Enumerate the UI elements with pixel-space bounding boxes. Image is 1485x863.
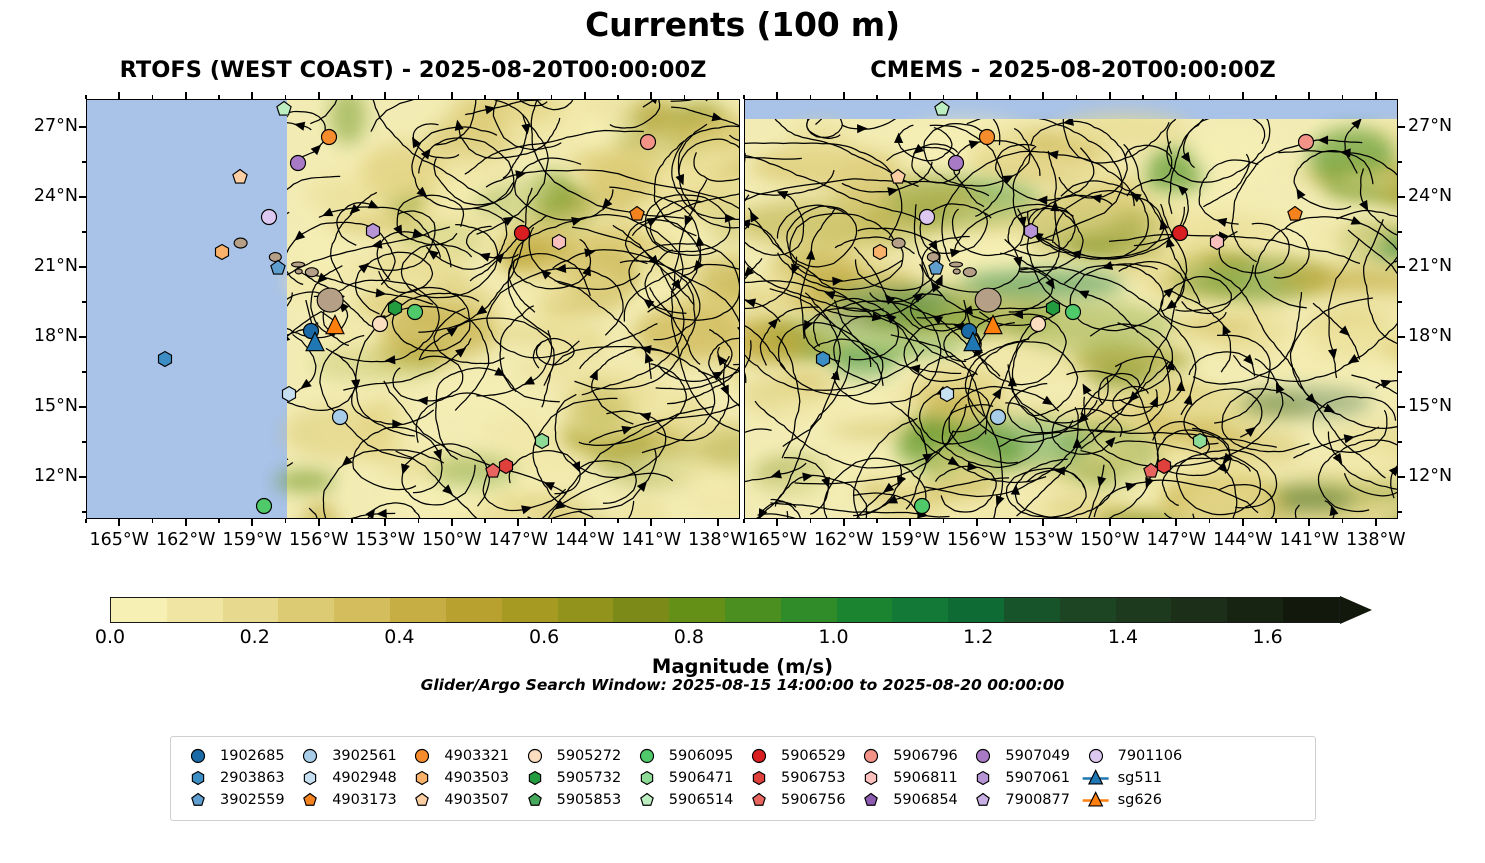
float-marker-3902561[interactable] [989, 408, 1007, 426]
legend-item-5906753[interactable]: 5906753 [744, 767, 856, 789]
axis-tick [743, 519, 744, 523]
figure-suptitle: Currents (100 m) [0, 5, 1485, 44]
axis-tick [82, 441, 86, 442]
axis-tick [79, 196, 86, 198]
axis-tick [617, 519, 618, 523]
float-marker-5906471[interactable] [1191, 432, 1209, 450]
colorbar-segment [502, 598, 558, 622]
axis-tick [876, 519, 877, 523]
colorbar-segment [781, 598, 837, 622]
axis-tick [650, 92, 652, 99]
colorbar-extend-arrow [1340, 596, 1372, 624]
axis-tick [1375, 92, 1377, 99]
legend-item-label: 5906811 [893, 770, 958, 786]
axis-tick [1375, 519, 1377, 526]
float-marker-2903863[interactable] [814, 350, 832, 368]
axis-tick [285, 519, 286, 523]
float-marker-4903321[interactable] [320, 128, 338, 146]
float-marker-4902948[interactable] [938, 385, 956, 403]
legend-marker-icon [295, 792, 325, 808]
float-marker-4903173[interactable] [1286, 205, 1304, 223]
axis-tick [776, 519, 778, 526]
axis-tick [717, 92, 719, 99]
colorbar[interactable] [110, 597, 1360, 623]
axis-tick [1342, 519, 1343, 523]
legend-marker-icon [520, 792, 550, 808]
legend-item-label: sg626 [1118, 792, 1162, 808]
axis-tick [1042, 92, 1044, 99]
colorbar-segment [892, 598, 948, 622]
y-tick-label: 24°N [2, 186, 78, 206]
axis-tick [118, 92, 120, 99]
axis-tick [1275, 95, 1276, 99]
axis-tick [1242, 519, 1244, 526]
float-marker-3902561[interactable] [331, 408, 349, 426]
float-markers-rtofs [87, 100, 739, 518]
axis-tick [1308, 92, 1310, 99]
axis-tick [218, 95, 219, 99]
axis-tick [517, 519, 519, 526]
axis-tick [351, 95, 352, 99]
axis-tick [1398, 126, 1405, 128]
legend-item-label: 3902561 [332, 748, 397, 764]
colorbar-tick-label: 0.4 [384, 626, 414, 648]
legend-item-label: 5906753 [781, 770, 846, 786]
legend-item-5906529[interactable]: 5906529 [744, 745, 856, 767]
y-tick-label: 27°N [2, 116, 78, 136]
axis-tick [1042, 519, 1044, 526]
axis-tick [1275, 519, 1276, 523]
legend-item-4903507[interactable]: 4903507 [407, 789, 519, 811]
legend-item-label: 7900877 [1005, 792, 1070, 808]
legend-marker-icon [520, 748, 550, 764]
float-marker-5906811[interactable] [1208, 233, 1226, 251]
axis-tick [810, 519, 811, 523]
axis-tick [1398, 336, 1405, 338]
y-tick-label: 12°N [2, 466, 78, 486]
float-marker-5906811[interactable] [550, 233, 568, 251]
axis-tick [185, 519, 187, 526]
legend-marker-icon [183, 770, 213, 786]
colorbar-segment [334, 598, 390, 622]
axis-tick [79, 476, 86, 478]
axis-tick [1398, 371, 1402, 372]
axis-tick [909, 519, 911, 526]
legend-item-label: 5906514 [669, 792, 734, 808]
colorbar-segment [223, 598, 279, 622]
float-marker-4903503[interactable] [213, 243, 231, 261]
legend-item-5906811[interactable]: 5906811 [856, 767, 968, 789]
colorbar-tick-label: 1.0 [818, 626, 848, 648]
legend-item-label: 5906095 [669, 748, 734, 764]
colorbar-segment [390, 598, 446, 622]
legend-marker-icon [183, 792, 213, 808]
y-tick-label: 18°N [2, 326, 78, 346]
legend-item-label: sg511 [1118, 770, 1162, 786]
legend-marker-icon [632, 770, 662, 786]
float-marker-7901106[interactable] [260, 208, 278, 226]
axis-tick [79, 126, 86, 128]
axis-tick [776, 92, 778, 99]
y-tick-label: 21°N [1408, 256, 1484, 276]
axis-tick [484, 95, 485, 99]
axis-tick [743, 95, 744, 99]
y-tick-label: 21°N [2, 256, 78, 276]
axis-tick [1398, 196, 1405, 198]
legend-marker-icon [1081, 748, 1111, 764]
legend-marker-icon [856, 792, 886, 808]
colorbar-segment [1116, 598, 1172, 622]
float-marker-5906796[interactable] [1297, 133, 1315, 151]
float-marker-5906095[interactable] [1064, 303, 1082, 321]
axis-tick [1109, 519, 1111, 526]
legend-item-5906756[interactable]: 5906756 [744, 789, 856, 811]
float-marker-5906753[interactable] [1155, 457, 1173, 475]
legend-item-label: 3902559 [220, 792, 285, 808]
legend-marker-icon [968, 792, 998, 808]
legend-item-4903321[interactable]: 4903321 [407, 745, 519, 767]
float-marker-7901106[interactable] [918, 208, 936, 226]
colorbar-segment [948, 598, 1004, 622]
colorbar-tick-label: 1.6 [1253, 626, 1283, 648]
float-marker-3902559[interactable] [269, 259, 287, 277]
colorbar-segment [1227, 598, 1283, 622]
axis-tick [285, 95, 286, 99]
legend-marker-icon [968, 748, 998, 764]
axis-tick [1398, 231, 1402, 232]
float-marker-4903507[interactable] [889, 168, 907, 186]
legend-item-3902559[interactable]: 3902559 [183, 789, 295, 811]
colorbar-segment [1060, 598, 1116, 622]
axis-tick [318, 519, 320, 526]
axis-tick [152, 95, 153, 99]
axis-tick [517, 92, 519, 99]
legend-item-label: 5905853 [557, 792, 622, 808]
legend-item-4902948[interactable]: 4902948 [295, 767, 407, 789]
axis-tick [82, 371, 86, 372]
legend-marker-icon [856, 748, 886, 764]
axis-tick [1398, 301, 1402, 302]
panel-title-rtofs: RTOFS (WEST COAST) - 2025-08-20T00:00:00… [85, 57, 741, 83]
legend-item-sg626[interactable]: sg626 [1081, 789, 1193, 811]
axis-tick [584, 92, 586, 99]
float-marker-5906095b[interactable] [255, 497, 273, 515]
float-marker-sg511[interactable] [963, 332, 984, 353]
float-marker-2903863[interactable] [156, 350, 174, 368]
axis-tick [1398, 511, 1402, 512]
y-tick-label: 24°N [1408, 186, 1484, 206]
axis-tick [1175, 519, 1177, 526]
float-marker-5907049[interactable] [947, 154, 965, 172]
legend-item-label: 4903321 [444, 748, 509, 764]
axis-tick [843, 519, 845, 526]
legend-marker-icon [856, 770, 886, 786]
axis-tick [351, 519, 352, 523]
legend-item-label: 5907049 [1005, 748, 1070, 764]
y-tick-label: 18°N [1408, 326, 1484, 346]
legend-marker-icon [295, 748, 325, 764]
axis-tick [876, 95, 877, 99]
float-marker-5906529[interactable] [1171, 224, 1189, 242]
y-tick-label: 12°N [1408, 466, 1484, 486]
float-marker-5905272[interactable] [1029, 315, 1047, 333]
float-marker-4902948[interactable] [280, 385, 298, 403]
legend-marker-icon [632, 748, 662, 764]
axis-tick [384, 92, 386, 99]
legend-item-5906854[interactable]: 5906854 [856, 789, 968, 811]
panel-title-cmems: CMEMS - 2025-08-20T00:00:00Z [745, 57, 1401, 83]
axis-tick [684, 519, 685, 523]
colorbar-segment [725, 598, 781, 622]
float-marker-sg511[interactable] [305, 332, 326, 353]
figure-canvas: Currents (100 m) RTOFS (WEST COAST) - 20… [0, 0, 1485, 863]
y-tick-label: 15°N [2, 396, 78, 416]
axis-tick [1009, 95, 1010, 99]
legend-item-5905732[interactable]: 5905732 [520, 767, 632, 789]
legend-marker-icon [744, 770, 774, 786]
float-marker-5907049[interactable] [289, 154, 307, 172]
axis-tick [1142, 519, 1143, 523]
axis-tick [82, 511, 86, 512]
colorbar-tick-label: 0.2 [240, 626, 270, 648]
colorbar-segment [558, 598, 614, 622]
axis-tick [1398, 161, 1402, 162]
colorbar-segment [278, 598, 334, 622]
axis-tick [1009, 519, 1010, 523]
colorbar-tick-label: 1.4 [1108, 626, 1138, 648]
axis-tick [451, 519, 453, 526]
axis-tick [418, 95, 419, 99]
legend-item-3902561[interactable]: 3902561 [295, 745, 407, 767]
legend-item-label: 5906756 [781, 792, 846, 808]
legend-marker-icon [407, 770, 437, 786]
search-window-caption: Glider/Argo Search Window: 2025-08-15 14… [0, 676, 1485, 694]
axis-tick [218, 519, 219, 523]
legend-item-label: 2903863 [220, 770, 285, 786]
legend-grid: 1902685 2903863 3902559 3902561 4902948 … [183, 745, 1305, 811]
legend-item-5906095[interactable]: 5906095 [632, 745, 744, 767]
legend-marker-icon [407, 792, 437, 808]
legend-marker-icon [295, 770, 325, 786]
legend-marker-icon [968, 770, 998, 786]
colorbar-tick-label: 0.8 [674, 626, 704, 648]
legend-item-label: 5906471 [669, 770, 734, 786]
float-marker-5906796[interactable] [639, 133, 657, 151]
float-marker-4903507[interactable] [231, 168, 249, 186]
axis-tick [318, 92, 320, 99]
float-marker-5906095b[interactable] [913, 497, 931, 515]
axis-tick [909, 92, 911, 99]
axis-tick [1109, 92, 1111, 99]
legend-item-5906514[interactable]: 5906514 [632, 789, 744, 811]
axis-tick [79, 266, 86, 268]
legend-item-4903503[interactable]: 4903503 [407, 767, 519, 789]
float-marker-5905272[interactable] [371, 315, 389, 333]
axis-tick [1209, 95, 1210, 99]
legend-marker-icon [1081, 791, 1111, 810]
axis-tick [1076, 519, 1077, 523]
axis-tick [82, 161, 86, 162]
legend-marker-icon [744, 792, 774, 808]
float-marker-sg626[interactable] [325, 316, 346, 337]
float-marker-5907061[interactable] [1022, 222, 1040, 240]
float-marker-4903321[interactable] [978, 128, 996, 146]
legend-item-label: 4902948 [332, 770, 397, 786]
legend-item-label: 4903173 [332, 792, 397, 808]
colorbar-segment [669, 598, 725, 622]
colorbar-tick-label: 0.6 [529, 626, 559, 648]
legend-item-5905272[interactable]: 5905272 [520, 745, 632, 767]
colorbar-segment [1004, 598, 1060, 622]
y-tick-label: 15°N [1408, 396, 1484, 416]
axis-tick [617, 95, 618, 99]
axis-tick [1175, 92, 1177, 99]
legend-marker-icon [183, 748, 213, 764]
legend-item-sg511[interactable]: sg511 [1081, 767, 1193, 789]
axis-tick [79, 406, 86, 408]
axis-tick [1076, 95, 1077, 99]
magnitude-blob [739, 471, 740, 491]
axis-tick [684, 95, 685, 99]
legend-marker-icon [520, 770, 550, 786]
axis-tick [82, 301, 86, 302]
colorbar-gradient [110, 597, 1340, 623]
axis-tick [843, 92, 845, 99]
legend-item-label: 1902685 [220, 748, 285, 764]
float-marker-5906529[interactable] [513, 224, 531, 242]
legend-item-label: 7901106 [1118, 748, 1183, 764]
axis-tick [79, 336, 86, 338]
axis-tick [717, 519, 719, 526]
float-marker-3902559[interactable] [927, 259, 945, 277]
legend-item-5905853[interactable]: 5905853 [520, 789, 632, 811]
axis-tick [1308, 519, 1310, 526]
legend-item-5907049[interactable]: 5907049 [968, 745, 1080, 767]
axis-tick [85, 95, 86, 99]
axis-tick [943, 519, 944, 523]
axis-tick [1209, 519, 1210, 523]
axis-tick [1398, 406, 1405, 408]
axis-tick [551, 95, 552, 99]
float-marker-4903503[interactable] [871, 243, 889, 261]
axis-tick [943, 95, 944, 99]
axis-tick [384, 519, 386, 526]
colorbar-segment [1171, 598, 1227, 622]
legend-marker-icon [1081, 769, 1111, 788]
axis-tick [185, 92, 187, 99]
legend-item-label: 5905272 [557, 748, 622, 764]
y-tick-label: 27°N [1408, 116, 1484, 136]
legend-item-5907061[interactable]: 5907061 [968, 767, 1080, 789]
float-marker-4903173[interactable] [628, 205, 646, 223]
colorbar-segment [446, 598, 502, 622]
legend-item-5906471[interactable]: 5906471 [632, 767, 744, 789]
legend-marker-icon [632, 792, 662, 808]
float-marker-5906753[interactable] [497, 457, 515, 475]
float-legend[interactable]: 1902685 2903863 3902559 3902561 4902948 … [170, 736, 1316, 821]
axis-tick [118, 519, 120, 526]
axis-tick [251, 519, 253, 526]
axis-tick [82, 231, 86, 232]
legend-item-7901106[interactable]: 7901106 [1081, 745, 1193, 767]
legend-item-1902685[interactable]: 1902685 [183, 745, 295, 767]
colorbar-tick-label: 0.0 [95, 626, 125, 648]
axis-tick [976, 92, 978, 99]
legend-item-label: 5906529 [781, 748, 846, 764]
axis-tick [584, 519, 586, 526]
axis-tick [1398, 266, 1405, 268]
float-marker-5906471[interactable] [533, 432, 551, 450]
legend-item-4903173[interactable]: 4903173 [295, 789, 407, 811]
legend-item-label: 5906854 [893, 792, 958, 808]
map-panel-cmems[interactable] [744, 99, 1398, 519]
legend-item-label: 5905732 [557, 770, 622, 786]
colorbar-segment [111, 598, 167, 622]
legend-item-label: 5907061 [1005, 770, 1070, 786]
axis-tick [650, 519, 652, 526]
float-marker-5907061[interactable] [364, 222, 382, 240]
colorbar-axis-label: Magnitude (m/s) [0, 655, 1485, 678]
colorbar-segment [167, 598, 223, 622]
axis-tick [484, 519, 485, 523]
axis-tick [85, 519, 86, 523]
legend-item-2903863[interactable]: 2903863 [183, 767, 295, 789]
legend-item-label: 4903507 [444, 792, 509, 808]
axis-tick [1342, 95, 1343, 99]
axis-tick [551, 519, 552, 523]
x-tick-label: 138°W [1330, 530, 1422, 550]
colorbar-segment [837, 598, 893, 622]
float-markers-cmems [745, 100, 1397, 518]
colorbar-segment [613, 598, 669, 622]
axis-tick [810, 95, 811, 99]
axis-tick [1398, 476, 1405, 478]
legend-item-label: 5906796 [893, 748, 958, 764]
axis-tick [251, 92, 253, 99]
float-marker-5906095[interactable] [406, 303, 424, 321]
float-marker-5905732[interactable] [386, 299, 404, 317]
legend-marker-icon [744, 748, 774, 764]
axis-tick [1142, 95, 1143, 99]
float-marker-sg626[interactable] [983, 316, 1004, 337]
axis-tick [976, 519, 978, 526]
colorbar-segment [1283, 598, 1339, 622]
float-marker-5906514[interactable] [275, 100, 293, 118]
axis-tick [1398, 441, 1402, 442]
float-marker-5906514[interactable] [933, 100, 951, 118]
legend-marker-icon [407, 748, 437, 764]
axis-tick [1242, 92, 1244, 99]
legend-item-7900877[interactable]: 7900877 [968, 789, 1080, 811]
legend-item-label: 4903503 [444, 770, 509, 786]
colorbar-tick-label: 1.2 [963, 626, 993, 648]
axis-tick [418, 519, 419, 523]
axis-tick [451, 92, 453, 99]
map-panel-rtofs[interactable] [86, 99, 740, 519]
float-marker-5905732[interactable] [1044, 299, 1062, 317]
legend-item-5906796[interactable]: 5906796 [856, 745, 968, 767]
axis-tick [152, 519, 153, 523]
